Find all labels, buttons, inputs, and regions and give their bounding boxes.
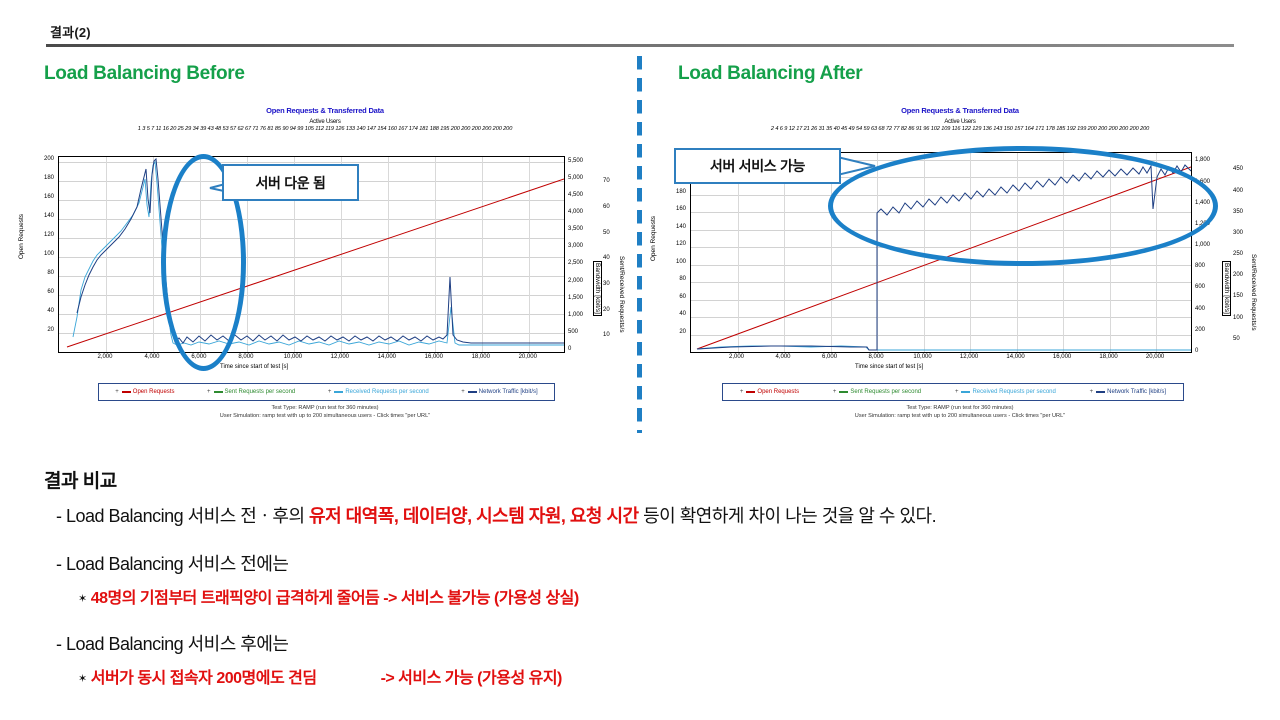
conclusion-block: 결과 비교 - Load Balancing 서비스 전ㆍ후의 유저 대역폭, … — [44, 466, 1254, 688]
series-received-requests — [697, 346, 1191, 350]
conclusion-line-3-sub: ✶서버가 동시 접속자 200명에도 견딤-> 서비스 가능 (가용성 유지) — [44, 664, 1254, 688]
right-axis-tick: 1,000 — [568, 312, 583, 318]
right-axis-tick: 350 — [1233, 209, 1243, 215]
right-axis-tick: 500 — [568, 329, 578, 335]
y-tick: 200 — [44, 156, 54, 162]
x-tick: 20,000 — [1143, 354, 1167, 360]
right-axis-tick: 60 — [603, 204, 610, 210]
conclusion-line-3-sub-text-b: -> 서비스 가능 (가용성 유지) — [381, 670, 562, 687]
right-axis-tick: 1,500 — [568, 295, 583, 301]
chart-footnote: Test Type: RAMP (run test for 360 minute… — [650, 404, 1270, 412]
y-tick: 160 — [676, 206, 686, 212]
right-axis-bandwidth-title: Bandwidth [kbit/s] — [593, 261, 602, 316]
x-tick: 8,000 — [864, 354, 888, 360]
legend-color-swatch — [961, 391, 970, 393]
chart-footnote: User Simulation: ramp test with up to 20… — [20, 412, 630, 420]
annotation-ellipse-after — [828, 146, 1218, 266]
right-axis-tick: 5,000 — [568, 175, 583, 181]
series-open-requests — [67, 179, 564, 347]
y-tick: 60 — [679, 294, 686, 300]
plot-area-wrapper: Open Requests 20406080100120140160180200… — [20, 106, 630, 436]
right-axis-tick: 250 — [1233, 251, 1243, 257]
bullet-star-icon: ✶ — [78, 673, 87, 685]
conclusion-line-2-sub: ✶48명의 기점부터 트래픽양이 급격하게 줄어듬 -> 서비스 불가능 (가용… — [44, 584, 1254, 608]
right-axis-tick: 3,500 — [568, 226, 583, 232]
y-tick: 80 — [679, 276, 686, 282]
y-tick: 100 — [676, 259, 686, 265]
right-axis-tick: 450 — [1233, 166, 1243, 172]
y-axis-title: Open Requests — [18, 214, 25, 259]
y-tick: 140 — [676, 224, 686, 230]
x-tick: 4,000 — [140, 354, 164, 360]
y-tick: 120 — [676, 241, 686, 247]
right-axis-tick: 2,500 — [568, 260, 583, 266]
right-axis-tick: 400 — [1233, 188, 1243, 194]
y-tick: 160 — [44, 194, 54, 200]
right-axis-tick: 150 — [1233, 293, 1243, 299]
annotation-callout-after: 서버 서비스 가능 — [674, 148, 841, 184]
page-title: 결과(2) — [50, 22, 91, 41]
x-tick: 10,000 — [281, 354, 305, 360]
x-tick: 2,000 — [725, 354, 749, 360]
right-axis-tick: 0 — [1195, 348, 1198, 354]
legend-color-swatch — [122, 391, 131, 393]
right-axis-tick: 200 — [1195, 327, 1205, 333]
right-axis-tick: 1,000 — [1195, 242, 1210, 248]
right-axis-tick: 0 — [568, 346, 571, 352]
chart-panel-after: Open Requests & Transferred Data Active … — [650, 106, 1270, 436]
section-heading-after: Load Balancing After — [678, 63, 862, 85]
right-axis-tick: 70 — [603, 178, 610, 184]
legend-toggle-icon[interactable]: + — [955, 389, 959, 395]
right-axis-tick: 400 — [1195, 306, 1205, 312]
right-axis-tick: 800 — [1195, 263, 1205, 269]
x-tick: 18,000 — [469, 354, 493, 360]
vertical-dashed-divider — [637, 56, 642, 433]
chart-panel-before: Open Requests & Transferred Data Active … — [20, 106, 630, 436]
right-axis-tick: 100 — [1233, 315, 1243, 321]
section-heading-before: Load Balancing Before — [44, 63, 245, 85]
conclusion-heading: 결과 비교 — [44, 466, 1254, 493]
legend-label: Open Requests — [133, 389, 175, 395]
right-axis-requests-title: Sent/Received Requests/s — [1250, 254, 1257, 331]
x-tick: 6,000 — [818, 354, 842, 360]
legend-color-swatch — [468, 391, 477, 393]
right-axis-tick: 1,800 — [1195, 157, 1210, 163]
x-tick: 16,000 — [422, 354, 446, 360]
chart-legend-before[interactable]: +Open Requests+Sent Requests per second+… — [98, 383, 555, 401]
legend-label: Received Requests per second — [345, 389, 428, 395]
x-tick: 8,000 — [234, 354, 258, 360]
right-axis-tick: 10 — [603, 332, 610, 338]
x-tick: 12,000 — [328, 354, 352, 360]
y-tick: 20 — [47, 327, 54, 333]
x-tick: 18,000 — [1097, 354, 1121, 360]
legend-color-swatch — [1096, 391, 1105, 393]
legend-toggle-icon[interactable]: + — [328, 389, 332, 395]
legend-item[interactable]: +Received Requests per second — [955, 389, 1056, 395]
annotation-callout-before: 서버 다운 됨 — [222, 164, 359, 201]
right-axis-tick: 4,000 — [568, 209, 583, 215]
x-tick: 10,000 — [911, 354, 935, 360]
legend-item[interactable]: +Open Requests — [115, 389, 174, 395]
right-axis-tick: 50 — [603, 230, 610, 236]
right-axis-tick: 30 — [603, 281, 610, 287]
right-axis-tick: 20 — [603, 307, 610, 313]
y-tick: 20 — [679, 329, 686, 335]
chart-legend-after[interactable]: +Open Requests+Sent Requests per second+… — [722, 383, 1184, 401]
y-axis-title: Open Requests — [650, 216, 657, 261]
title-divider — [46, 44, 1234, 47]
legend-toggle-icon[interactable]: + — [740, 389, 744, 395]
x-tick: 2,000 — [93, 354, 117, 360]
legend-toggle-icon[interactable]: + — [833, 389, 837, 395]
chart-footnotes-after: Test Type: RAMP (run test for 360 minute… — [650, 404, 1270, 420]
x-tick: 20,000 — [516, 354, 540, 360]
legend-color-swatch — [334, 391, 343, 393]
legend-item[interactable]: +Sent Requests per second — [833, 389, 921, 395]
right-axis-requests-title: Sent/Received Requests/s — [618, 256, 625, 333]
right-axis-tick: 5,500 — [568, 158, 583, 164]
slide-root: 결과(2) Load Balancing Before Load Balanci… — [0, 0, 1280, 720]
legend-item[interactable]: +Network Traffic [kbit/s] — [1090, 389, 1166, 395]
y-tick: 40 — [679, 311, 686, 317]
legend-toggle-icon[interactable]: + — [115, 389, 119, 395]
conclusion-line-1-pre: - Load Balancing 서비스 전ㆍ후의 — [56, 506, 309, 526]
conclusion-line-1-highlight: 유저 대역폭, 데이터양, 시스템 자원, 요청 시간 — [309, 506, 639, 526]
legend-item[interactable]: +Open Requests — [740, 389, 799, 395]
y-tick: 60 — [47, 289, 54, 295]
legend-toggle-icon[interactable]: + — [1090, 389, 1094, 395]
x-tick: 14,000 — [1004, 354, 1028, 360]
conclusion-line-2: - Load Balancing 서비스 전에는 — [44, 550, 1254, 576]
legend-label: Network Traffic [kbit/s] — [479, 389, 538, 395]
x-tick: 4,000 — [771, 354, 795, 360]
legend-label: Sent Requests per second — [850, 389, 921, 395]
legend-item[interactable]: +Received Requests per second — [328, 389, 429, 395]
legend-color-swatch — [214, 391, 223, 393]
legend-toggle-icon[interactable]: + — [207, 389, 211, 395]
legend-item[interactable]: +Network Traffic [kbit/s] — [461, 389, 537, 395]
y-tick: 120 — [44, 232, 54, 238]
chart-footnotes-before: Test Type: RAMP (run test for 360 minute… — [20, 404, 630, 420]
conclusion-line-1: - Load Balancing 서비스 전ㆍ후의 유저 대역폭, 데이터양, … — [44, 502, 1254, 528]
bullet-star-icon: ✶ — [78, 593, 87, 605]
y-tick: 180 — [676, 189, 686, 195]
legend-color-swatch — [746, 391, 755, 393]
conclusion-line-1-post: 등이 확연하게 차이 나는 것을 알 수 있다. — [639, 506, 936, 526]
right-axis-tick: 3,000 — [568, 243, 583, 249]
right-axis-tick: 4,500 — [568, 192, 583, 198]
legend-color-swatch — [839, 391, 848, 393]
conclusion-line-3: - Load Balancing 서비스 후에는 — [44, 630, 1254, 656]
x-tick: 16,000 — [1050, 354, 1074, 360]
y-tick: 40 — [47, 308, 54, 314]
y-tick: 80 — [47, 270, 54, 276]
x-axis-title: Time since start of test [s] — [220, 364, 288, 370]
right-axis-tick: 300 — [1233, 230, 1243, 236]
right-axis-tick: 50 — [1233, 336, 1240, 342]
y-tick: 180 — [44, 175, 54, 181]
right-axis-tick: 40 — [603, 255, 610, 261]
y-tick: 100 — [44, 251, 54, 257]
x-tick: 12,000 — [957, 354, 981, 360]
right-axis-bandwidth-title: Bandwidth [kbit/s] — [1222, 261, 1231, 316]
right-axis-tick: 2,000 — [568, 278, 583, 284]
x-axis-title: Time since start of test [s] — [855, 364, 923, 370]
legend-item[interactable]: +Sent Requests per second — [207, 389, 295, 395]
right-axis-tick: 200 — [1233, 272, 1243, 278]
legend-label: Network Traffic [kbit/s] — [1107, 389, 1166, 395]
legend-label: Sent Requests per second — [225, 389, 296, 395]
chart-footnote: User Simulation: ramp test with up to 20… — [650, 412, 1270, 420]
chart-footnote: Test Type: RAMP (run test for 360 minute… — [20, 404, 630, 412]
conclusion-line-3-sub-text-a: 서버가 동시 접속자 200명에도 견딤 — [91, 670, 317, 687]
legend-toggle-icon[interactable]: + — [461, 389, 465, 395]
legend-label: Open Requests — [757, 389, 799, 395]
legend-label: Received Requests per second — [972, 389, 1055, 395]
right-axis-tick: 600 — [1195, 284, 1205, 290]
conclusion-line-2-sub-text: 48명의 기점부터 트래픽양이 급격하게 줄어듬 -> 서비스 불가능 (가용성… — [91, 590, 579, 607]
x-tick: 14,000 — [375, 354, 399, 360]
y-tick: 140 — [44, 213, 54, 219]
